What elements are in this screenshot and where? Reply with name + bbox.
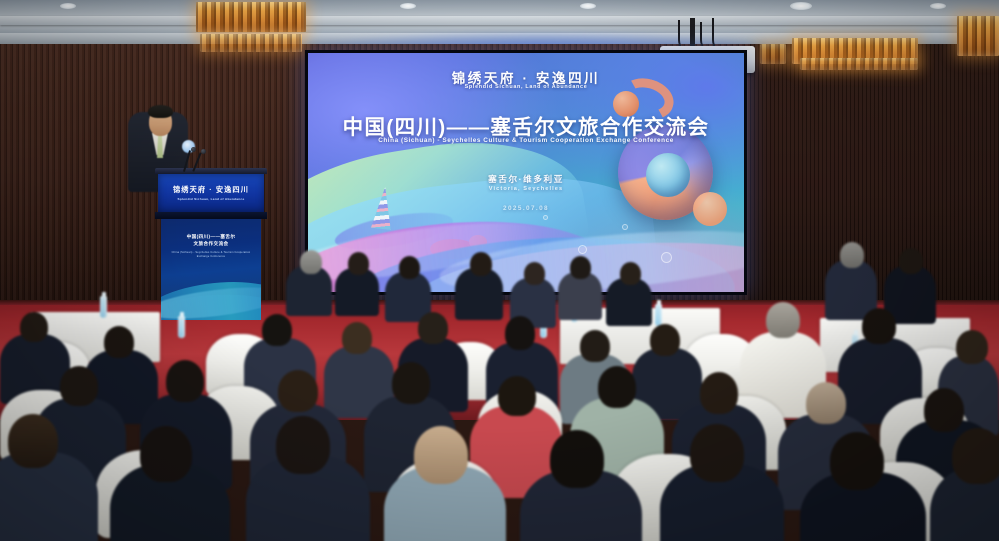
wall-light-panel: [957, 16, 999, 56]
audience-head: [166, 360, 204, 402]
speaker-hair: [148, 105, 173, 118]
audience-head: [262, 314, 292, 346]
audience-head: [418, 312, 448, 344]
podium-sign-en: Splendid Sichuan, Land of Abundance: [178, 197, 245, 201]
podium-sign: 锦绣天府 · 安逸四川 Splendid Sichuan, Land of Ab…: [158, 174, 264, 212]
audience-person: [606, 278, 652, 326]
wall-light-panel: [800, 58, 918, 70]
audience-head: [806, 382, 846, 424]
audience-head: [498, 376, 536, 416]
audience-head: [598, 366, 636, 408]
audience-head: [505, 316, 535, 350]
podium-divider: [155, 212, 267, 219]
audience-person: [558, 272, 602, 320]
screen-kicker-en: Splendid Sichuan, Land of Abundance: [308, 84, 744, 90]
audience-person: [0, 452, 98, 541]
water-bottle: [178, 316, 185, 338]
audience-head: [300, 250, 322, 274]
water-bottle: [655, 304, 662, 326]
audience-head: [570, 256, 591, 279]
audience-head: [899, 248, 923, 274]
audience-head: [276, 416, 330, 474]
audience-head: [278, 370, 318, 412]
audience-head: [60, 366, 98, 406]
audience-head: [104, 326, 134, 358]
podium-sign-cn: 锦绣天府 · 安逸四川: [173, 185, 249, 195]
audience-head: [956, 330, 988, 364]
conference-photo-scene: 锦绣天府 · 安逸四川 Splendid Sichuan, Land of Ab…: [0, 0, 999, 541]
audience-head: [8, 414, 58, 468]
ceiling-spot-light: [60, 3, 76, 9]
audience-head: [580, 330, 610, 362]
audience-head: [766, 302, 800, 338]
audience-head: [392, 362, 430, 404]
audience-head: [414, 426, 468, 484]
ceiling-spot-light: [930, 3, 946, 9]
audience-head: [470, 252, 492, 276]
audience-head: [862, 308, 896, 344]
audience-head: [650, 324, 680, 356]
screen-bubble: [622, 224, 628, 230]
audience-area: [0, 238, 999, 541]
audience-head: [700, 372, 738, 414]
audience-head: [399, 256, 420, 279]
audience-head: [830, 432, 884, 490]
screen-title-en: China (Sichuan) - Seychelles Culture & T…: [308, 137, 744, 144]
ceiling-spot-light: [790, 2, 812, 10]
ceiling-spot-light: [580, 3, 596, 9]
wall-light-panel: [196, 2, 306, 32]
water-bottle: [100, 296, 107, 318]
wall-light-panel: [200, 34, 302, 52]
ceiling-spot-light: [400, 3, 416, 9]
audience-head: [620, 262, 641, 285]
audience-head: [348, 252, 369, 275]
microphone-head-icon: [191, 147, 196, 152]
audience-head: [924, 388, 964, 432]
audience-head: [524, 262, 545, 285]
microphone-head-icon: [201, 149, 206, 154]
audience-head: [550, 430, 604, 488]
screen-place-en: Victoria, Seychelles: [308, 186, 744, 192]
audience-head: [840, 242, 864, 268]
screen-place-cn: 塞舌尔·维多利亚: [308, 173, 744, 185]
audience-person: [335, 268, 379, 316]
screen-title-cn: 中国(四川)——塞舌尔文旅合作交流会: [308, 110, 744, 140]
audience-head: [952, 428, 999, 484]
ceiling-band: [0, 16, 999, 25]
wall-light-panel: [760, 44, 786, 64]
audience-head: [342, 322, 372, 354]
audience-head: [20, 312, 48, 342]
audience-head: [690, 424, 744, 482]
screen-date: 2025.07.08: [308, 205, 744, 212]
audience-head: [140, 426, 192, 482]
